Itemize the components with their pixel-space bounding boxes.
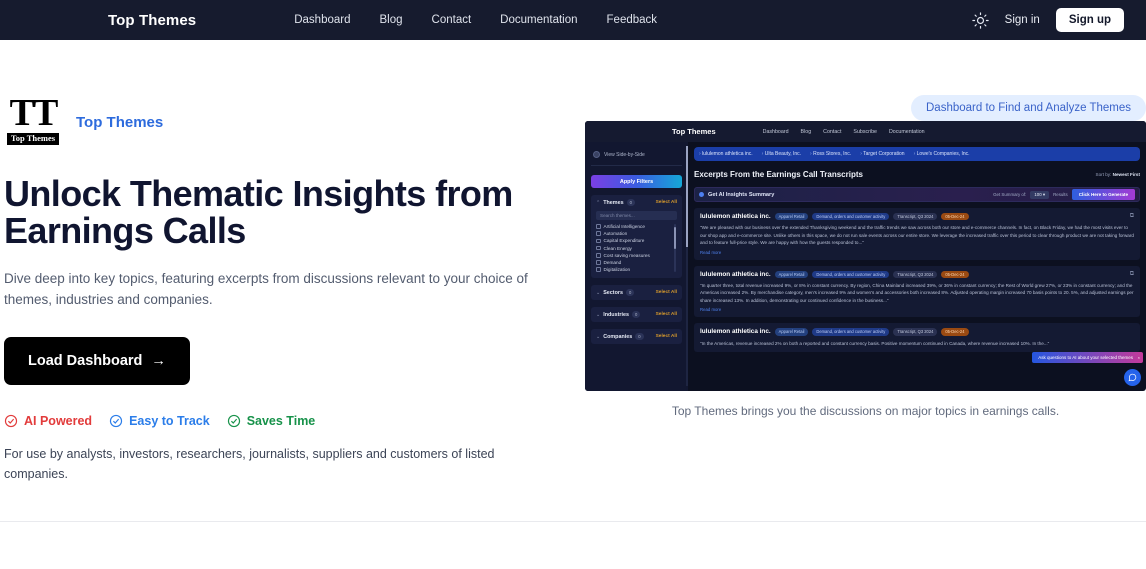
nav-link-blog[interactable]: Blog [380, 14, 403, 26]
tag-date: 05-Dec-24 [941, 213, 968, 220]
sort-value: Newest First [1113, 172, 1140, 177]
company-chip: Lowe's Companies, Inc. [914, 151, 970, 157]
card-company: lululemon athletica inc. [700, 328, 771, 335]
section-count: 0 [635, 333, 643, 340]
section-title: Companies [603, 334, 632, 340]
logo-letters: TT [10, 95, 57, 132]
preview-nav-dashboard: Dashboard [763, 129, 789, 135]
checkbox-icon [596, 267, 601, 272]
checkbox-icon [596, 260, 601, 265]
section-count: 0 [627, 199, 635, 206]
badge-saves-time: Saves Time [227, 414, 316, 428]
logo-caption: Top Themes [7, 133, 59, 145]
badge-label: Easy to Track [129, 414, 210, 428]
nav-link-dashboard[interactable]: Dashboard [294, 14, 350, 26]
filter-section-themes: ⌃ Themes 0 Select All Search themes... A… [591, 195, 682, 278]
read-more-link: Read more [700, 250, 1134, 255]
apply-filters-button: Apply Filters [591, 175, 682, 188]
navbar-brand[interactable]: Top Themes [108, 12, 196, 29]
arrow-right-icon: → [151, 353, 166, 369]
hero-footnote: For use by analysts, investors, research… [4, 444, 524, 484]
selected-companies-bar: lululemon athletica inc. Ulta Beauty, In… [694, 147, 1140, 161]
card-excerpt-text: "We are pleased with our business over t… [700, 224, 1134, 246]
copy-icon: ⧉ [1130, 271, 1134, 278]
sun-icon[interactable] [972, 12, 989, 29]
sort-label: Sort by: [1096, 172, 1112, 177]
preview-navbar: Top Themes Dashboard Blog Contact Subscr… [585, 121, 1146, 142]
select-all-link: Select All [656, 200, 677, 205]
transcript-card: lululemon athletica inc. Apparel Retail … [694, 208, 1140, 260]
sign-in-link[interactable]: Sign in [1005, 14, 1040, 26]
preview-brand: Top Themes [672, 127, 716, 136]
section-count: 0 [632, 311, 640, 318]
tag-date: 05-Dec-24 [941, 271, 968, 278]
chevron-down-icon: ⌄ [596, 312, 600, 318]
select-all-link: Select All [656, 312, 677, 317]
tag-theme: Demand, orders and customer activity [812, 271, 889, 278]
tag-sector: Apparel Retail [775, 213, 809, 220]
hero-right-column: Dashboard to Find and Analyze Themes Top… [585, 95, 1146, 484]
generate-button: Click Here to Generate [1072, 189, 1135, 200]
navbar-links: Dashboard Blog Contact Documentation Fee… [294, 14, 657, 26]
section-title: Industries [603, 312, 629, 318]
company-chip: Ross Stores, Inc. [810, 151, 851, 157]
summary-count-select: 100 ▾ [1030, 191, 1049, 199]
preview-sidebar: View Side-by-Side Apply Filters ⌃ Themes… [585, 142, 688, 391]
list-item: Capital Expenditure [596, 238, 671, 243]
section-title: Themes [603, 200, 623, 206]
read-more-link: Read more [700, 307, 1134, 312]
tooltip-text: Ask questions to AI about your selected … [1038, 355, 1133, 360]
top-navbar: Top Themes Dashboard Blog Contact Docume… [0, 0, 1146, 40]
preview-nav-links: Dashboard Blog Contact Subscribe Documen… [763, 129, 925, 135]
summary-of-label: Get Summary of: [993, 192, 1026, 197]
company-chip: lululemon athletica inc. [699, 151, 753, 157]
brand-name: Top Themes [76, 114, 163, 131]
badge-label: AI Powered [24, 414, 92, 428]
excerpts-title: Excerpts From the Earnings Call Transcri… [694, 170, 863, 179]
sign-up-button[interactable]: Sign up [1056, 8, 1124, 32]
checkbox-icon [596, 224, 601, 229]
filter-section-companies: ⌄ Companies 0 Select All [591, 329, 682, 344]
tag-sector: Apparel Retail [775, 271, 809, 278]
toggle-dot-icon [593, 151, 600, 158]
card-excerpt-text: "In the Americas, revenue increased 2% o… [700, 340, 1134, 347]
hero-section: TT Top Themes Top Themes Unlock Thematic… [0, 40, 1146, 484]
preview-caption: Top Themes brings you the discussions on… [585, 404, 1146, 418]
select-all-link: Select All [656, 334, 677, 339]
page-title: Unlock Thematic Insights from Earnings C… [4, 175, 579, 249]
list-item: Demand [596, 260, 671, 265]
check-circle-icon [109, 414, 123, 428]
close-icon: × [1138, 355, 1140, 360]
theme-checkbox-list: Artificial Intelligence Automation Capit… [596, 224, 677, 272]
company-chip: Target Corporation [860, 151, 904, 157]
brand-lockup: TT Top Themes Top Themes [4, 95, 579, 149]
check-circle-icon [227, 414, 241, 428]
checkbox-icon [596, 239, 601, 244]
section-count: 0 [626, 289, 634, 296]
section-title: Sectors [603, 290, 623, 296]
tag-source: Transcript, Q3 2024 [893, 328, 937, 335]
preview-body: View Side-by-Side Apply Filters ⌃ Themes… [585, 142, 1146, 391]
sparkle-icon [699, 192, 704, 197]
results-label: Results [1053, 192, 1068, 197]
ai-insights-title: Get AI Insights Summary [708, 192, 774, 198]
transcript-card: lululemon athletica inc. Apparel Retail … [694, 266, 1140, 318]
preview-nav-documentation: Documentation [889, 129, 925, 135]
ai-chat-tooltip: Ask questions to AI about your selected … [1032, 352, 1143, 363]
cta-label: Load Dashboard [28, 353, 142, 369]
preview-nav-blog: Blog [801, 129, 812, 135]
filter-section-sectors: ⌄ Sectors 0 Select All [591, 285, 682, 300]
card-company: lululemon athletica inc. [700, 271, 771, 278]
chevron-down-icon: ⌄ [596, 290, 600, 296]
list-item: Automation [596, 231, 671, 236]
nav-link-documentation[interactable]: Documentation [500, 14, 577, 26]
card-excerpt-text: "In quarter three, total revenue increas… [700, 282, 1134, 304]
dashboard-preview-image[interactable]: Top Themes Dashboard Blog Contact Subscr… [585, 121, 1146, 391]
sort-control: Sort by: Newest First [1096, 172, 1140, 177]
tag-theme: Demand, orders and customer activity [812, 213, 889, 220]
badge-label: Saves Time [247, 414, 316, 428]
list-item: Artificial Intelligence [596, 224, 671, 229]
checkbox-icon [596, 231, 601, 236]
ai-insights-bar: Get AI Insights Summary Get Summary of: … [694, 187, 1140, 202]
chevron-down-icon: ⌄ [596, 334, 600, 340]
select-all-link: Select All [656, 290, 677, 295]
check-circle-icon [4, 414, 18, 428]
copy-icon: ⧉ [1130, 213, 1134, 220]
tag-date: 05-Dec-24 [941, 328, 968, 335]
filter-section-industries: ⌄ Industries 0 Select All [591, 307, 682, 322]
tag-source: Transcript, Q3 2024 [893, 271, 937, 278]
hero-subtitle: Dive deep into key topics, featuring exc… [4, 268, 534, 310]
tag-theme: Demand, orders and customer activity [812, 328, 889, 335]
list-item: Cost saving measures [596, 253, 671, 258]
view-side-by-side-toggle: View Side-by-Side [591, 148, 682, 166]
badge-ai-powered: AI Powered [4, 414, 92, 428]
tag-sector: Apparel Retail [775, 328, 809, 335]
transcript-card: lululemon athletica inc. Apparel Retail … [694, 323, 1140, 352]
nav-link-contact[interactable]: Contact [432, 14, 472, 26]
feature-badges: AI Powered Easy to Track Saves Time [4, 414, 579, 428]
load-dashboard-button[interactable]: Load Dashboard → [4, 337, 190, 385]
list-item: Clean Energy [596, 246, 671, 251]
checkbox-icon [596, 253, 601, 258]
toggle-label: View Side-by-Side [604, 152, 645, 158]
list-item: Digitalization [596, 267, 671, 272]
badge-easy-to-track: Easy to Track [109, 414, 210, 428]
nav-link-feedback[interactable]: Feedback [607, 14, 658, 26]
section-divider [0, 521, 1146, 522]
tag-source: Transcript, Q3 2024 [893, 213, 937, 220]
hero-left-column: TT Top Themes Top Themes Unlock Thematic… [0, 95, 579, 484]
preview-nav-contact: Contact [823, 129, 841, 135]
chevron-up-icon: ⌃ [596, 200, 600, 206]
preview-nav-subscribe: Subscribe [853, 129, 877, 135]
search-themes-input: Search themes... [596, 211, 677, 220]
theme-list-scrollbar [674, 224, 677, 272]
card-company: lululemon athletica inc. [700, 213, 771, 220]
top-themes-logo-icon: TT Top Themes [4, 95, 62, 149]
dashboard-pill-badge: Dashboard to Find and Analyze Themes [911, 95, 1146, 121]
checkbox-icon [596, 246, 601, 251]
chat-bubble-icon [1124, 369, 1141, 386]
navbar-actions: Sign in Sign up [972, 8, 1124, 32]
preview-main-panel: lululemon athletica inc. Ulta Beauty, In… [688, 142, 1146, 391]
company-chip: Ulta Beauty, Inc. [762, 151, 801, 157]
excerpts-header: Excerpts From the Earnings Call Transcri… [694, 170, 1140, 179]
